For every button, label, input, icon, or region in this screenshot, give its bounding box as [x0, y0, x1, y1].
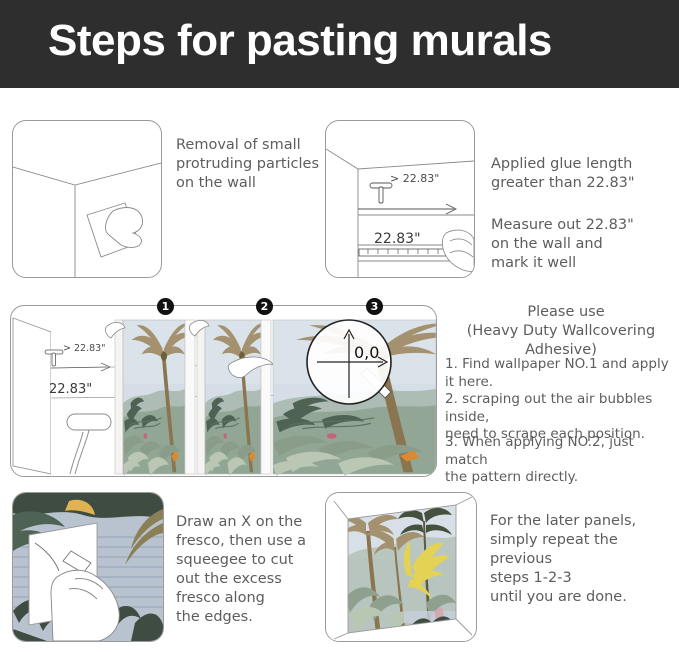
badge-step-1: 1	[157, 298, 174, 315]
instruction-item-3: 3. When applying NO.2, just match the pa…	[445, 434, 679, 487]
measure-wall-drawing	[326, 121, 474, 277]
panel-repeat-steps	[325, 492, 477, 642]
label-glue-length-middle: > 22.83"	[63, 343, 106, 354]
finished-room-scene	[326, 493, 476, 641]
caption-repeat-steps: For the later panels, simply repeat the …	[490, 512, 679, 607]
caption-cut-excess: Draw an X on the fresco, then use a sque…	[176, 513, 336, 627]
instruction-item-1: 1. Find wallpaper NO.1 and apply it here…	[445, 356, 679, 391]
panel-measure-glue: > 22.83" 22.83"	[325, 120, 475, 278]
instructions-heading-line2: (Heavy Duty Wallcovering Adhesive)	[443, 322, 679, 360]
wall-corner-drawing	[13, 121, 161, 277]
badge-step-2: 2	[256, 298, 273, 315]
label-measure-length-middle: 22.83"	[49, 382, 92, 397]
panel-removal-particles	[12, 120, 162, 278]
cut-excess-scene	[13, 493, 163, 641]
caption-glue-length: Applied glue length greater than 22.83"	[491, 155, 671, 193]
label-measure-length: 22.83"	[374, 231, 421, 247]
page-title: Steps for pasting murals	[48, 16, 552, 66]
panel-cut-excess	[12, 492, 164, 642]
panel-apply-sheets: > 22.83" 22.83" 0,0	[10, 305, 437, 477]
instructions-heading-line1: Please use	[455, 303, 677, 322]
caption-measure-mark: Measure out 22.83" on the wall and mark …	[491, 216, 671, 273]
header-banner: Steps for pasting murals	[0, 0, 679, 88]
label-glue-length: > 22.83"	[390, 172, 439, 185]
badge-step-3: 3	[366, 298, 383, 315]
caption-removal-particles: Removal of small protruding particles on…	[176, 136, 326, 193]
label-origin-coordinate: 0,0	[354, 343, 379, 362]
